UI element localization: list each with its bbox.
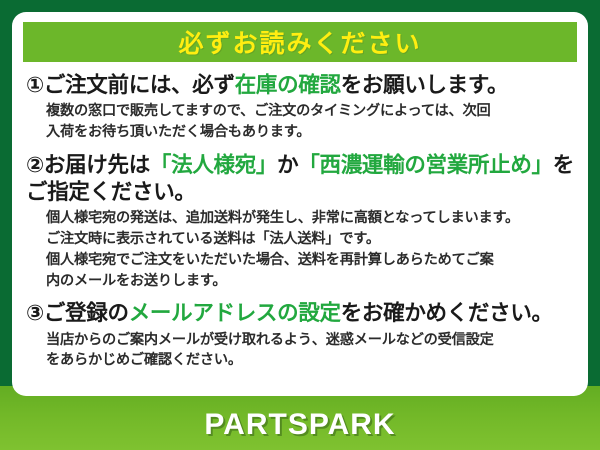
notice-item-1-heading-highlight: 在庫の確認	[235, 73, 341, 97]
notice-item-2-heading: ②お届け先は「法人様宛」か「西濃運輸の営業所止め」をご指定ください。	[26, 152, 574, 207]
page-title: 必ずお読みください	[178, 24, 421, 60]
notice-item-3-heading: ③ご登録のメールアドレスの設定をお確かめください。	[26, 300, 574, 327]
notice-item-3-heading-post: をお確かめください。	[341, 301, 553, 325]
notice-item-2-body-line-4: 内のメールをお送りします。	[46, 271, 574, 292]
notice-item-1-heading-pre: ご注文前には、必ず	[44, 73, 235, 97]
notice-item-1: ①ご注文前には、必ず在庫の確認をお願いします。 複数の窓口で販売してますので、ご…	[26, 72, 574, 143]
notice-item-3-body-line-2: をあらかじめご確認ください。	[46, 350, 574, 371]
notice-item-3-heading-pre: ご登録の	[44, 301, 129, 325]
notice-item-2-body: 個人様宅宛の発送は、追加送料が発生し、非常に高額となってしまいます。 ご注文時に…	[46, 208, 574, 291]
notice-items-list: ①ご注文前には、必ず在庫の確認をお願いします。 複数の窓口で販売してますので、ご…	[12, 62, 588, 371]
notice-card: 必ずお読みください ①ご注文前には、必ず在庫の確認をお願いします。 複数の窓口で…	[12, 12, 588, 396]
notice-item-3: ③ご登録のメールアドレスの設定をお確かめください。 当店からのご案内メールが受け…	[26, 300, 574, 371]
notice-title-bar: 必ずお読みください	[23, 22, 577, 62]
notice-item-1-body-line-2: 入荷をお待ち頂いただく場合もあります。	[46, 122, 574, 143]
notice-item-2: ②お届け先は「法人様宛」か「西濃運輸の営業所止め」をご指定ください。 個人様宅宛…	[26, 152, 574, 292]
notice-item-1-marker: ①	[26, 73, 44, 97]
brand-logo-text: PARTSPARK	[0, 408, 600, 442]
notice-item-2-marker: ②	[26, 153, 44, 177]
notice-item-1-heading-post: をお願いします。	[341, 73, 508, 97]
notice-item-3-body: 当店からのご案内メールが受け取れるよう、迷惑メールなどの受信設定 をあらかじめご…	[46, 330, 574, 371]
notice-item-2-heading-mid: か	[277, 153, 298, 177]
notice-item-3-heading-highlight: メールアドレスの設定	[129, 301, 341, 325]
notice-item-3-marker: ③	[26, 301, 44, 325]
notice-item-1-body: 複数の窓口で販売してますので、ご注文のタイミングによっては、次回 入荷をお待ち頂…	[46, 101, 574, 142]
notice-item-2-heading-highlight-2: 「西濃運輸の営業所止め」	[298, 153, 552, 177]
notice-item-1-heading: ①ご注文前には、必ず在庫の確認をお願いします。	[26, 72, 574, 99]
notice-item-2-body-line-2: ご注文時に表示されている送料は「法人送料」です。	[46, 229, 574, 250]
notice-item-2-body-line-3: 個人様宅宛でご注文をいただいた場合、送料を再計算しあらためてご案	[46, 250, 574, 271]
notice-item-2-body-line-1: 個人様宅宛の発送は、追加送料が発生し、非常に高額となってしまいます。	[46, 208, 574, 229]
notice-banner: 必ずお読みください ①ご注文前には、必ず在庫の確認をお願いします。 複数の窓口で…	[0, 0, 600, 450]
notice-item-2-heading-pre: お届け先は	[44, 153, 150, 177]
notice-item-3-body-line-1: 当店からのご案内メールが受け取れるよう、迷惑メールなどの受信設定	[46, 330, 574, 351]
notice-item-2-heading-highlight: 「法人様宛」	[150, 153, 277, 177]
notice-item-1-body-line-1: 複数の窓口で販売してますので、ご注文のタイミングによっては、次回	[46, 101, 574, 122]
